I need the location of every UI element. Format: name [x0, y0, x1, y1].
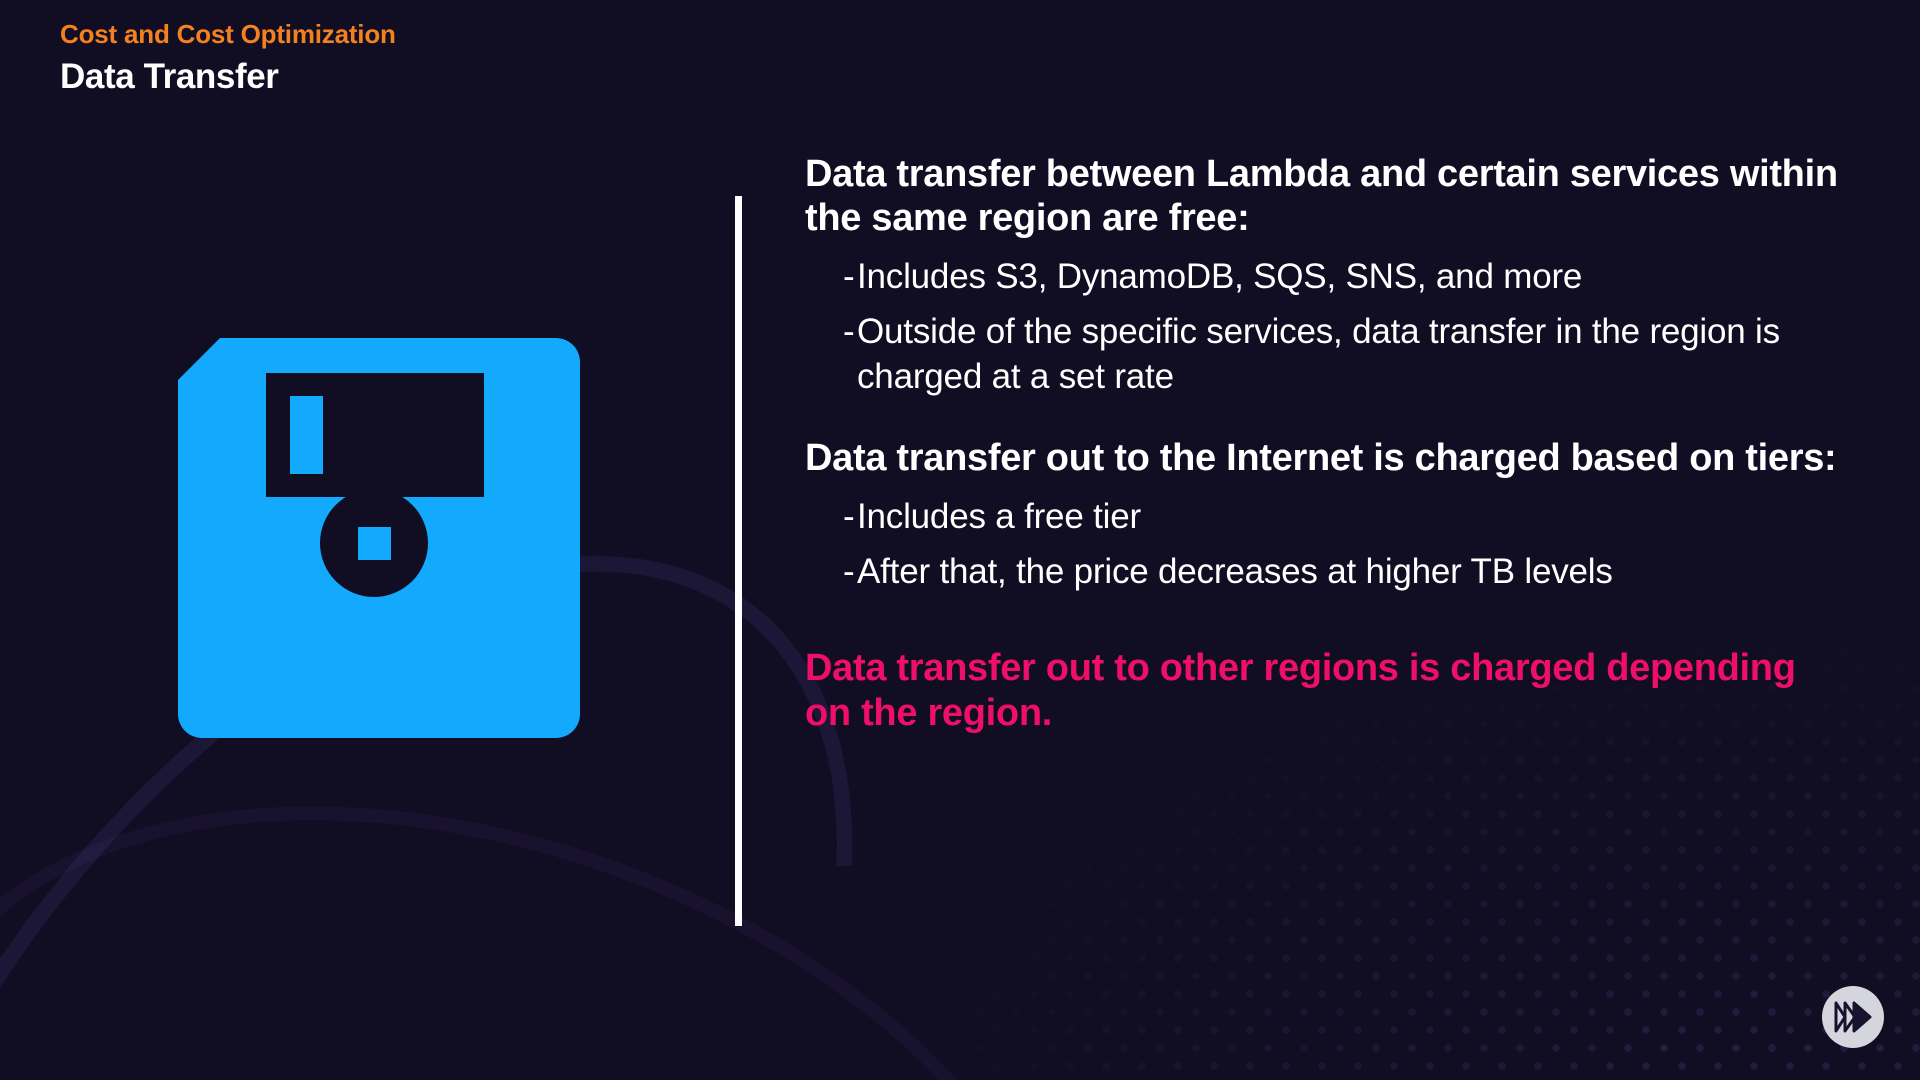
bullet-list-1: - Includes S3, DynamoDB, SQS, SNS, and m…	[805, 255, 1840, 399]
slide-root: Cost and Cost Optimization Data Transfer…	[0, 0, 1920, 1080]
page-title: Data Transfer	[60, 54, 396, 100]
vertical-divider	[735, 196, 742, 926]
bullet-marker: -	[805, 255, 857, 300]
bullet-text: After that, the price decreases at highe…	[857, 550, 1840, 595]
list-item: - Includes S3, DynamoDB, SQS, SNS, and m…	[805, 255, 1840, 300]
bullet-list-2: - Includes a free tier - After that, the…	[805, 495, 1840, 595]
bullet-text: Outside of the specific services, data t…	[857, 310, 1840, 400]
paragraph-heading-1: Data transfer between Lambda and certain…	[805, 152, 1840, 241]
content-column: Data transfer between Lambda and certain…	[805, 152, 1840, 735]
section-eyebrow: Cost and Cost Optimization	[60, 18, 396, 51]
bullet-marker: -	[805, 310, 857, 355]
bullet-text: Includes a free tier	[857, 495, 1840, 540]
paragraph-heading-2: Data transfer out to the Internet is cha…	[805, 436, 1840, 480]
slide-header: Cost and Cost Optimization Data Transfer	[60, 18, 396, 99]
bullet-text: Includes S3, DynamoDB, SQS, SNS, and mor…	[857, 255, 1840, 300]
list-item: - Includes a free tier	[805, 495, 1840, 540]
pluralsight-play-logo	[1822, 986, 1884, 1048]
bullet-marker: -	[805, 495, 857, 540]
floppy-disk-icon	[178, 338, 580, 738]
bullet-marker: -	[805, 550, 857, 595]
callout-text: Data transfer out to other regions is ch…	[805, 646, 1840, 735]
list-item: - After that, the price decreases at hig…	[805, 550, 1840, 595]
list-item: - Outside of the specific services, data…	[805, 310, 1840, 400]
